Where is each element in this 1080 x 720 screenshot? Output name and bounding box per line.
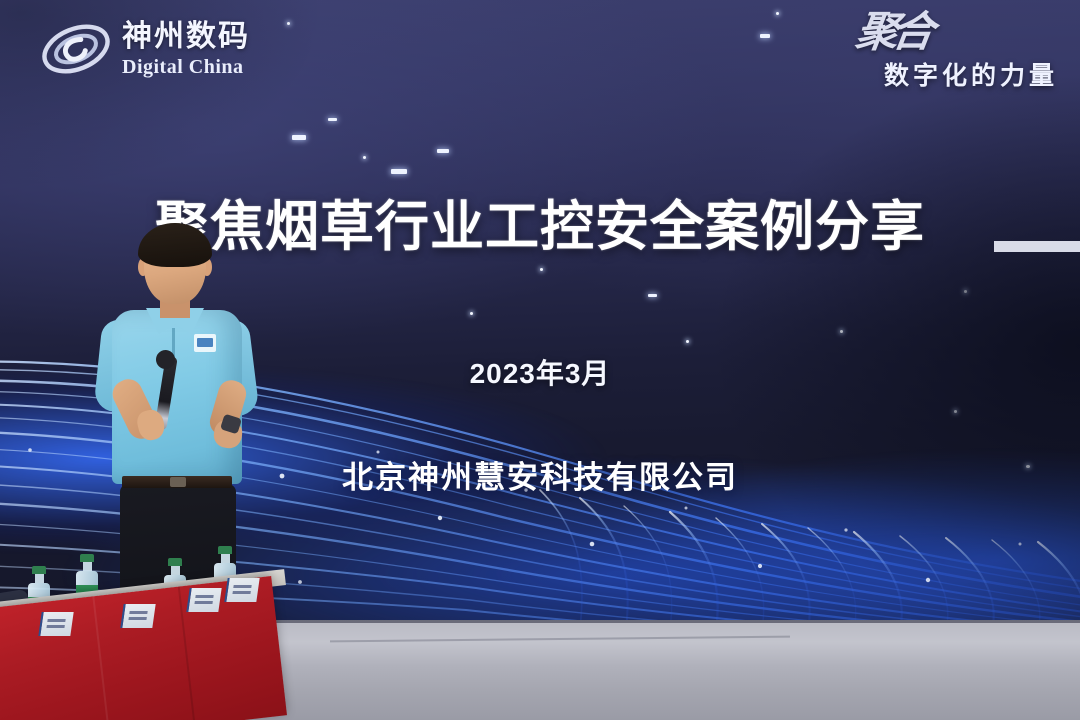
conference-photo: 神州数码 Digital China 聚合 数字化的力量 聚焦烟草行业工控安全案… — [0, 0, 1080, 720]
sparkle-dot — [363, 156, 366, 159]
name-card — [186, 588, 221, 612]
bottle-neck — [221, 554, 230, 563]
event-calligraphy: 聚合 — [853, 16, 930, 52]
bottle-cap — [168, 558, 182, 566]
sparkle-dot — [287, 22, 290, 25]
sparkle-dot — [776, 12, 779, 15]
brand-name-en: Digital China — [122, 57, 250, 77]
sparkle-dash — [391, 169, 407, 174]
sparkle-dash — [648, 294, 657, 297]
name-card — [120, 604, 155, 628]
sparkle-dot — [964, 290, 967, 293]
bottle-neck — [83, 562, 92, 571]
shirt-logo-badge — [194, 334, 216, 352]
brand-wordmark: 神州数码 Digital China — [122, 22, 250, 77]
sparkle-dot — [470, 312, 473, 315]
sparkle-dot — [686, 340, 689, 343]
bottle-neck — [171, 566, 180, 575]
name-card — [38, 612, 73, 636]
event-logo: 聚合 数字化的力量 — [856, 16, 1058, 92]
sparkle-dot — [954, 410, 957, 413]
table-fold — [92, 596, 110, 720]
sparkle-dash — [328, 118, 337, 121]
name-card — [224, 578, 259, 602]
speaker-belt-buckle — [170, 477, 186, 487]
sparkle-dash — [437, 149, 449, 153]
digital-china-swirl-icon — [40, 18, 112, 80]
sparkle-dot — [540, 268, 543, 271]
bottle-neck — [35, 574, 44, 583]
event-tagline: 数字化的力量 — [856, 56, 1058, 92]
digital-china-logo: 神州数码 Digital China — [40, 18, 250, 80]
brand-name-cn: 神州数码 — [122, 22, 250, 52]
speaker-hair — [138, 223, 212, 267]
bottle-cap — [32, 566, 46, 574]
bottle-cap — [218, 546, 232, 554]
sparkle-dot — [840, 330, 843, 333]
sparkle-dash — [760, 34, 770, 38]
bottle-cap — [80, 554, 94, 562]
sparkle-dash — [292, 135, 306, 140]
